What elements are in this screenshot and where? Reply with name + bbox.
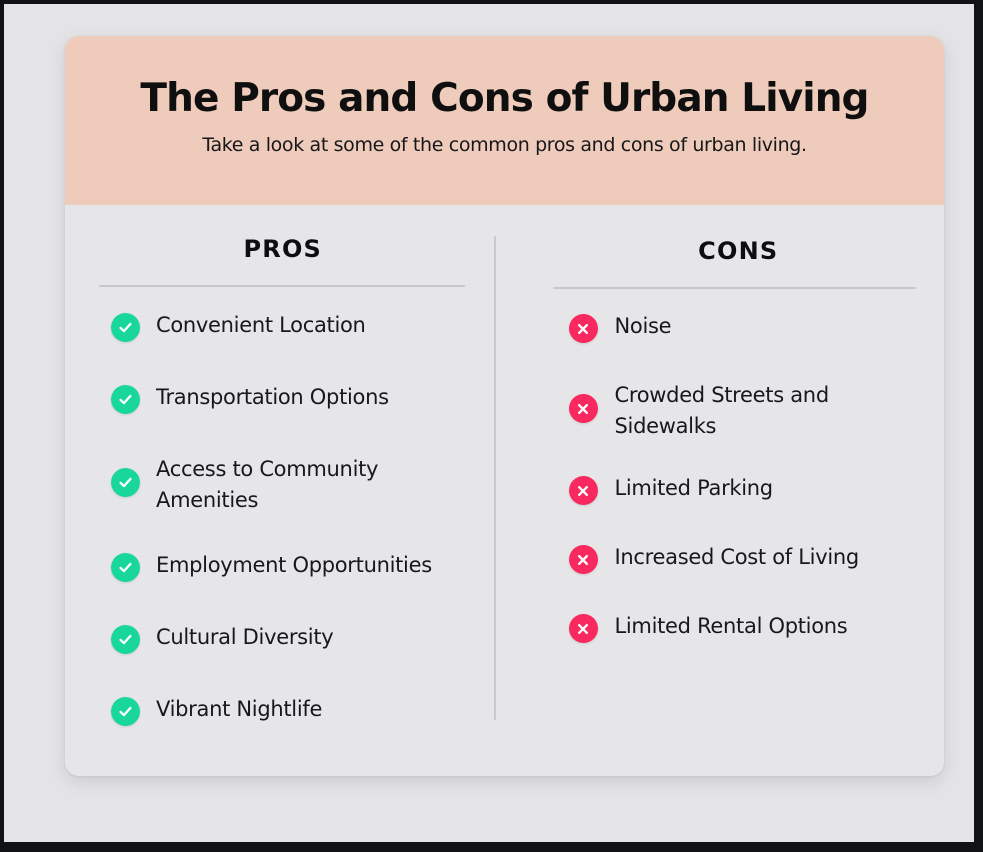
list-item: Limited Parking <box>551 473 927 511</box>
list-item: Cultural Diversity <box>95 622 471 660</box>
list-item: Convenient Location <box>95 310 471 348</box>
x-circle-icon <box>569 314 598 343</box>
page-title: The Pros and Cons of Urban Living <box>65 79 944 120</box>
page-surface: The Pros and Cons of Urban Living Take a… <box>4 4 974 842</box>
check-circle-icon <box>111 385 140 414</box>
cons-item-label: Crowded Streets and Sidewalks <box>615 380 927 442</box>
x-circle-icon <box>569 614 598 643</box>
window-edge-top <box>0 0 983 4</box>
list-item: Transportation Options <box>95 382 471 420</box>
x-circle-icon <box>569 476 598 505</box>
card-body: PROS Convenient LocationTransportation O… <box>65 205 944 776</box>
cons-item-label: Noise <box>615 311 672 342</box>
cons-column-heading: CONS <box>551 237 927 265</box>
pros-list: Convenient LocationTransportation Option… <box>95 310 471 732</box>
column-divider <box>494 236 496 720</box>
list-item: Employment Opportunities <box>95 550 471 588</box>
check-circle-icon <box>111 553 140 582</box>
pros-cons-card: The Pros and Cons of Urban Living Take a… <box>65 36 944 776</box>
list-item: Vibrant Nightlife <box>95 694 471 732</box>
check-circle-icon <box>111 468 140 497</box>
list-item: Crowded Streets and Sidewalks <box>551 380 927 442</box>
list-item: Limited Rental Options <box>551 611 927 649</box>
cons-column: CONS NoiseCrowded Streets and SidewalksL… <box>495 205 945 776</box>
card-header: The Pros and Cons of Urban Living Take a… <box>65 36 944 205</box>
x-circle-icon <box>569 545 598 574</box>
cons-item-label: Limited Parking <box>615 473 773 504</box>
cons-item-label: Limited Rental Options <box>615 611 848 642</box>
list-item: Noise <box>551 311 927 349</box>
check-circle-icon <box>111 625 140 654</box>
cons-list: NoiseCrowded Streets and SidewalksLimite… <box>551 311 927 649</box>
window-edge-bottom <box>0 842 983 852</box>
pros-heading-rule <box>99 285 465 287</box>
cons-heading-rule <box>553 287 917 289</box>
pros-column-heading: PROS <box>95 235 471 263</box>
page-subtitle: Take a look at some of the common pros a… <box>65 134 944 157</box>
pros-column: PROS Convenient LocationTransportation O… <box>65 205 495 776</box>
pros-item-label: Vibrant Nightlife <box>156 694 322 725</box>
pros-item-label: Transportation Options <box>156 382 389 413</box>
pros-item-label: Employment Opportunities <box>156 550 432 581</box>
pros-item-label: Convenient Location <box>156 310 366 341</box>
check-circle-icon <box>111 313 140 342</box>
x-circle-icon <box>569 394 598 423</box>
list-item: Increased Cost of Living <box>551 542 927 580</box>
pros-item-label: Cultural Diversity <box>156 622 333 653</box>
list-item: Access to Community Amenities <box>95 454 471 516</box>
window-edge-left <box>0 0 4 852</box>
check-circle-icon <box>111 697 140 726</box>
pros-item-label: Access to Community Amenities <box>156 454 471 516</box>
window-edge-right <box>974 0 983 852</box>
cons-item-label: Increased Cost of Living <box>615 542 859 573</box>
viewport: The Pros and Cons of Urban Living Take a… <box>0 0 983 852</box>
